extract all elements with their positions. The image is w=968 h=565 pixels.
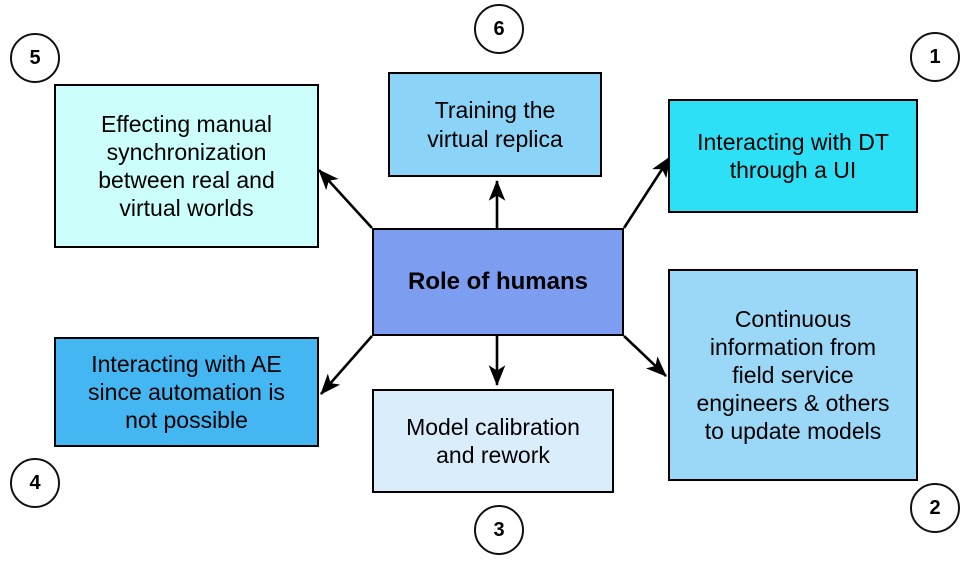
number-badge-label-6: 6 <box>493 18 504 41</box>
center-to-node-4 <box>321 336 372 394</box>
node-box-3[interactable]: Model calibration and rework <box>372 389 614 493</box>
node-label-1: Interacting with DT through a UI <box>676 128 910 184</box>
diagram-canvas: Role of humans Interacting with DT throu… <box>0 0 968 565</box>
number-badge-3: 3 <box>474 505 524 555</box>
node-label-5: Effecting manual synchronization between… <box>62 110 311 222</box>
number-badge-1: 1 <box>910 32 960 82</box>
node-label-6: Training the virtual replica <box>396 96 594 152</box>
number-badge-4: 4 <box>10 458 60 508</box>
node-label-3: Model calibration and rework <box>380 413 606 469</box>
number-badge-2: 2 <box>910 483 960 533</box>
number-badge-label-2: 2 <box>929 497 940 520</box>
node-label-2: Continuous information from field servic… <box>676 305 910 445</box>
node-box-4[interactable]: Interacting with AE since automation is … <box>54 337 319 447</box>
number-badge-6: 6 <box>474 4 524 54</box>
number-badge-label-5: 5 <box>29 47 40 70</box>
node-box-1[interactable]: Interacting with DT through a UI <box>668 99 918 213</box>
number-badge-label-4: 4 <box>29 472 40 495</box>
number-badge-label-1: 1 <box>929 46 940 69</box>
center-to-node-2 <box>624 336 666 376</box>
node-box-6[interactable]: Training the virtual replica <box>388 72 602 177</box>
node-label-4: Interacting with AE since automation is … <box>62 350 311 434</box>
number-badge-5: 5 <box>10 33 60 83</box>
center-node-label: Role of humans <box>380 267 616 296</box>
node-box-5[interactable]: Effecting manual synchronization between… <box>54 84 319 248</box>
center-to-node-5 <box>319 170 372 228</box>
number-badge-label-3: 3 <box>493 519 504 542</box>
node-box-2[interactable]: Continuous information from field servic… <box>668 269 918 481</box>
center-to-node-1 <box>624 157 670 228</box>
center-node-role-of-humans[interactable]: Role of humans <box>372 228 624 336</box>
